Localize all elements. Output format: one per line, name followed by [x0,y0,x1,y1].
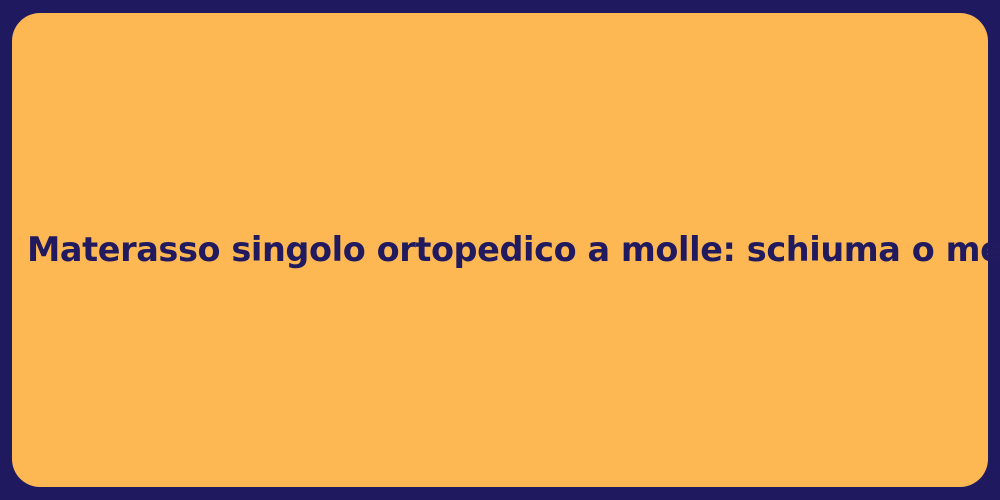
banner-frame: Materasso singolo ortopedico a molle: sc… [0,0,1000,500]
content-card: Materasso singolo ortopedico a molle: sc… [12,13,988,487]
headline-text: Materasso singolo ortopedico a molle: sc… [27,230,1000,270]
